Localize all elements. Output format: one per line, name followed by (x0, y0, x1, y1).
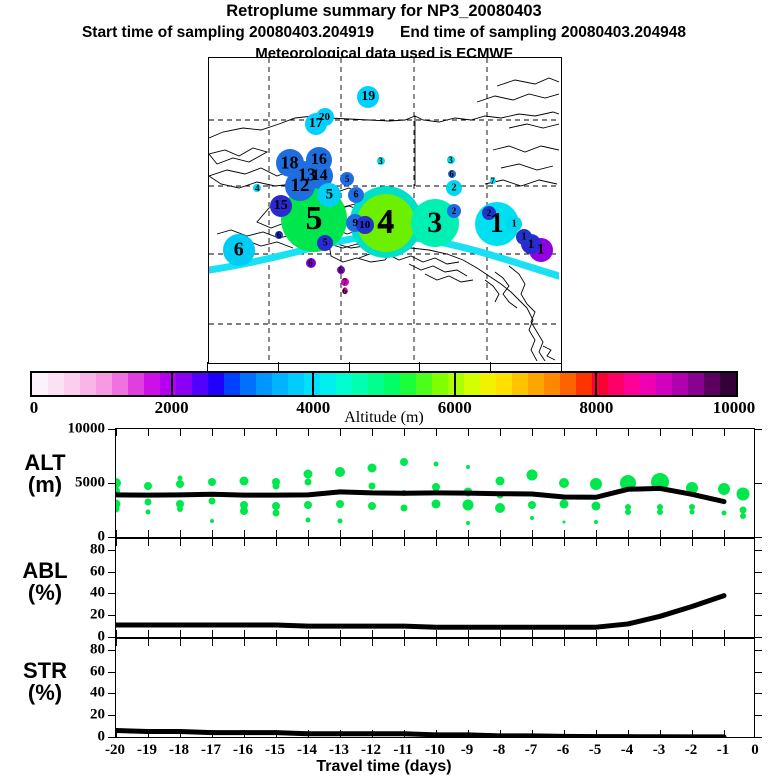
page-title: Retroplume summary for NP3_20080403 (0, 2, 768, 21)
x-tick-label: -16 (233, 742, 253, 759)
y-tick (108, 593, 115, 594)
y-tick (108, 693, 115, 694)
map-marker (275, 231, 283, 239)
y-tick-label: 0 (39, 729, 105, 746)
colorbar-swatch (688, 373, 704, 395)
map-marker (253, 184, 261, 192)
colorbar-swatch (528, 373, 544, 395)
colorbar-minor-tick (207, 362, 208, 371)
colorbar-swatch (608, 373, 624, 395)
colorbar-swatch (48, 373, 64, 395)
panel-abl-line (116, 539, 755, 637)
colorbar-swatch (272, 373, 288, 395)
y-tick (108, 737, 115, 738)
map-marker (348, 187, 364, 203)
y-tick-right (755, 737, 762, 738)
colorbar-swatch (224, 373, 240, 395)
sampling-start-time: Start time of sampling 20080403.204919 (82, 24, 374, 41)
y-tick-right (755, 637, 762, 638)
colorbar-swatch (432, 373, 448, 395)
str-chart-panel (115, 638, 755, 738)
map-marker (377, 157, 385, 165)
colorbar-minor-tick (490, 362, 491, 371)
map-marker (341, 278, 349, 286)
colorbar-minor-tick (349, 362, 350, 371)
x-tick-label: -2 (685, 742, 698, 759)
map-marker (340, 172, 354, 186)
colorbar-minor-tick (419, 362, 420, 371)
y-tick-right (755, 537, 762, 538)
x-tick-label: -19 (137, 742, 157, 759)
y-tick-right (755, 483, 762, 484)
colorbar-swatch (288, 373, 304, 395)
colorbar-minor-tick (278, 362, 279, 371)
colorbar-gradient (30, 371, 738, 397)
y-tick-label: 5000 (39, 475, 105, 492)
map-marker (306, 258, 316, 268)
colorbar-swatch (592, 373, 608, 395)
y-tick-label: 20 (39, 607, 105, 624)
colorbar-swatch (576, 373, 592, 395)
x-tick-label: -5 (589, 742, 602, 759)
y-tick-right (755, 693, 762, 694)
colorbar-swatch (400, 373, 416, 395)
x-tick-label: -20 (105, 742, 125, 759)
x-tick-label: 0 (751, 742, 759, 759)
y-tick-label: 10000 (39, 421, 105, 438)
colorbar-swatch (496, 373, 512, 395)
colorbar-swatch (64, 373, 80, 395)
colorbar-swatch (512, 373, 528, 395)
map-marker (223, 234, 255, 266)
y-tick (108, 672, 115, 673)
x-tick-label: -13 (329, 742, 349, 759)
y-tick-right (755, 572, 762, 573)
colorbar-swatch (96, 373, 112, 395)
colorbar-swatch (320, 373, 336, 395)
colorbar-swatch (464, 373, 480, 395)
map-marker (447, 156, 455, 164)
colorbar-swatch (704, 373, 720, 395)
x-tick-label: -4 (621, 742, 634, 759)
y-tick-right (755, 429, 762, 430)
map-marker (446, 180, 462, 196)
panel-str-line (116, 639, 755, 737)
colorbar-swatch (656, 373, 672, 395)
colorbar-swatch (176, 373, 192, 395)
colorbar-swatch (336, 373, 352, 395)
y-tick (108, 550, 115, 551)
colorbar-swatch (640, 373, 656, 395)
colorbar-divider (312, 371, 314, 397)
x-tick-label: -11 (393, 742, 412, 759)
colorbar-divider (595, 371, 597, 397)
retroplume-map: 1920171816131412453367155659104432212111… (208, 57, 562, 364)
x-tick-label: -1 (717, 742, 730, 759)
y-tick (108, 637, 115, 638)
map-marker (316, 108, 334, 126)
x-tick-label: -12 (361, 742, 381, 759)
y-tick (108, 429, 115, 430)
map-marker (448, 170, 456, 178)
y-tick-right (755, 593, 762, 594)
x-tick-label: -18 (169, 742, 189, 759)
map-marker (337, 266, 345, 274)
colorbar-swatch (480, 373, 496, 395)
y-tick (108, 483, 115, 484)
y-tick-label: 60 (39, 663, 105, 680)
map-marker (516, 229, 532, 245)
x-tick-label: -6 (557, 742, 570, 759)
colorbar-swatch (256, 373, 272, 395)
colorbar-swatch (720, 373, 736, 395)
colorbar-swatch (368, 373, 384, 395)
x-tick-label: -10 (425, 742, 445, 759)
colorbar-title: Altitude (m) (0, 409, 768, 427)
colorbar-swatch (448, 373, 464, 395)
colorbar-swatch (128, 373, 144, 395)
map-marker (356, 216, 374, 234)
x-tick-label: -15 (265, 742, 285, 759)
map-marker (317, 235, 333, 251)
map-marker (317, 183, 341, 207)
y-tick-label: 60 (39, 563, 105, 580)
map-marker (342, 288, 348, 294)
alt-mean-line (116, 429, 755, 537)
sampling-time-line: Start time of sampling 20080403.204919En… (0, 24, 768, 42)
map-marker (357, 86, 379, 108)
sampling-end-time: End time of sampling 20080403.204948 (400, 24, 686, 41)
colorbar-swatch (416, 373, 432, 395)
map-marker (490, 178, 496, 184)
colorbar-swatch (544, 373, 560, 395)
xaxis-title: Travel time (days) (0, 758, 768, 776)
x-tick-label: -7 (525, 742, 538, 759)
altitude-colorbar (30, 371, 738, 397)
y-tick (108, 572, 115, 573)
colorbar-divider (454, 371, 456, 397)
y-tick (108, 615, 115, 616)
y-tick (108, 650, 115, 651)
colorbar-minor-tick (561, 362, 562, 371)
map-marker (482, 206, 496, 220)
x-tick-label: -9 (461, 742, 474, 759)
abl-chart-panel (115, 538, 755, 638)
map-marker (447, 204, 461, 218)
colorbar-swatch (624, 373, 640, 395)
colorbar-swatch (32, 373, 48, 395)
colorbar-swatch (144, 373, 160, 395)
colorbar-swatch (192, 373, 208, 395)
colorbar-swatch (240, 373, 256, 395)
y-tick-right (755, 650, 762, 651)
colorbar-swatch (560, 373, 576, 395)
colorbar-divider (171, 371, 173, 397)
y-tick-label: 20 (39, 707, 105, 724)
y-tick (108, 715, 115, 716)
y-tick-label: 40 (39, 685, 105, 702)
x-tick-label: -14 (297, 742, 317, 759)
x-tick-label: -3 (653, 742, 666, 759)
y-tick-right (755, 715, 762, 716)
y-tick-label: 80 (39, 541, 105, 558)
colorbar-swatch (208, 373, 224, 395)
alt-chart-panel (115, 428, 755, 538)
y-tick-right (755, 615, 762, 616)
colorbar-swatch (112, 373, 128, 395)
y-tick-right (755, 672, 762, 673)
y-tick-right (755, 550, 762, 551)
y-tick (108, 537, 115, 538)
colorbar-swatch (80, 373, 96, 395)
map-marker (270, 195, 292, 217)
y-tick-label: 40 (39, 585, 105, 602)
colorbar-swatch (160, 373, 176, 395)
x-tick-label: -8 (493, 742, 506, 759)
colorbar-swatch (384, 373, 400, 395)
colorbar-swatch (672, 373, 688, 395)
x-tick-label: -17 (201, 742, 221, 759)
colorbar-swatch (352, 373, 368, 395)
y-tick-label: 80 (39, 641, 105, 658)
